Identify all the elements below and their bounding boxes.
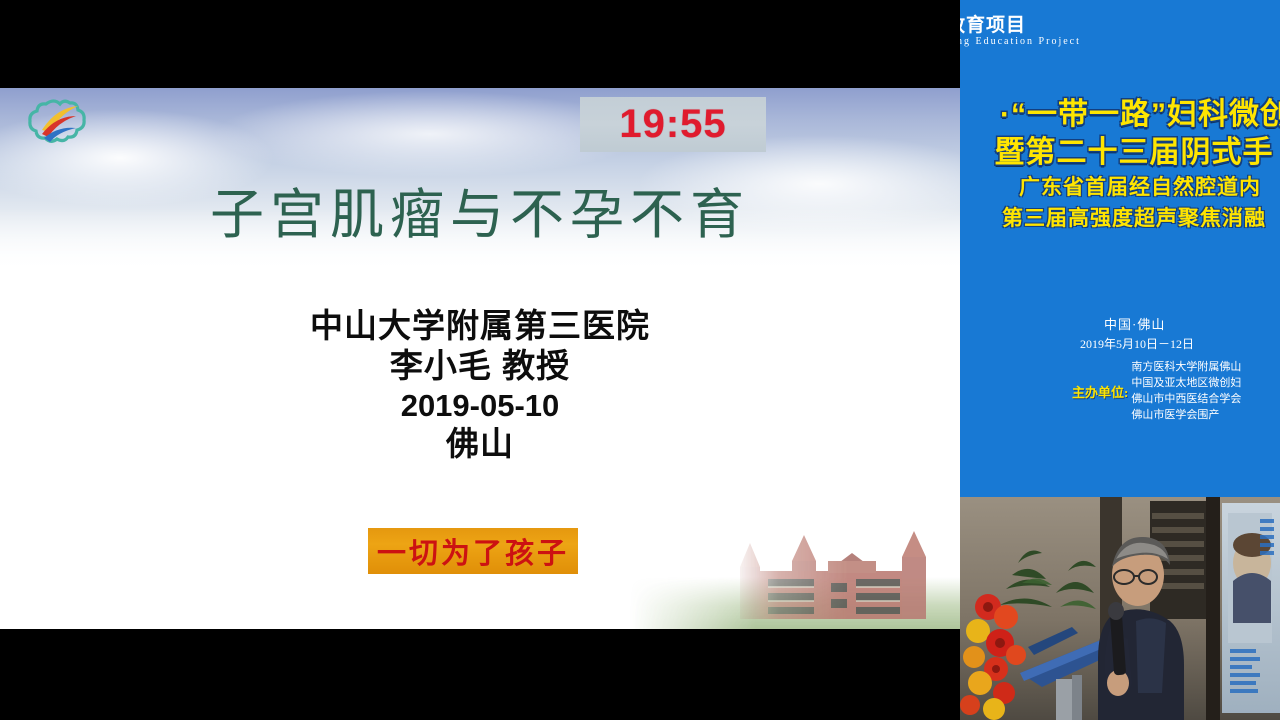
poster-hosts-block: 主办单位: 南方医科大学附属佛山 中国及亚太地区微创妇 佛山市中西医结合学会 佛… [1072,360,1280,424]
slide-presenter: 李小毛 教授 [0,346,960,386]
poster-host-item: 佛山市医学会围产 [1131,408,1241,424]
poster-title-line-2: 暨第二十三届阴式手 [988,134,1280,172]
letterbox-bottom [0,629,960,720]
poster-hosts-list: 南方医科大学附属佛山 中国及亚太地区微创妇 佛山市中西医结合学会 佛山市医学会围… [1131,360,1241,424]
timer-value: 19:55 [619,102,726,147]
letterbox-top [0,0,960,88]
poster-host-item: 南方医科大学附属佛山 [1131,360,1241,376]
slide-organization: 中山大学附属第三医院 [0,306,960,346]
slide-title: 子宫肌瘤与不孕不育 [0,170,960,249]
campus-building-illustration [732,527,942,623]
slide-slogan-box: 一切为了孩子 [368,528,578,574]
poster-subtitle-line-1: 广东省首届经自然腔道内 [1000,174,1280,202]
poster-header-en: Continuing Education Project [960,36,1280,48]
poster-subtitle-line-2: 第三届高强度超声聚焦消融 [988,205,1280,233]
poster-title-line-1: ·“一带一路”妇科微创、 [1000,96,1280,134]
conference-cloud-logo [22,96,100,154]
poster-header-cn: 继续教育项目 [960,16,1280,36]
countdown-timer: 19:55 [580,97,766,152]
slide-city: 佛山 [0,424,960,464]
slide-slogan-text: 一切为了孩子 [377,530,569,572]
poster-hosts-label: 主办单位: [1072,382,1128,401]
right-column: 继续教育项目 Continuing Education Project ·“一带… [960,0,1280,720]
poster-host-item: 佛山市中西医结合学会 [1131,392,1241,408]
presentation-slide-viewport[interactable]: 19:55 子宫肌瘤与不孕不育 中山大学附属第三医院 李小毛 教授 2019-0… [0,88,960,629]
poster-header: 继续教育项目 Continuing Education Project [960,16,1280,48]
video-player-stage: 19:55 子宫肌瘤与不孕不育 中山大学附属第三医院 李小毛 教授 2019-0… [0,0,1280,720]
poster-location-block: 中国·佛山 2019年5月10日－12日 [1080,315,1280,354]
poster-host-item: 中国及亚太地区微创妇 [1131,376,1241,392]
poster-main-titles: ·“一带一路”妇科微创、 暨第二十三届阴式手 广东省首届经自然腔道内 第三届高强… [960,96,1280,234]
slide-campus-building-graphic [630,499,960,629]
conference-poster: 继续教育项目 Continuing Education Project ·“一带… [960,0,1280,497]
poster-dates: 2019年5月10日－12日 [1080,335,1280,354]
slide-body-text: 中山大学附属第三医院 李小毛 教授 2019-05-10 佛山 [0,306,960,465]
slide-date: 2019-05-10 [0,387,960,425]
poster-place: 中国·佛山 [1104,315,1280,335]
live-speaker-camera[interactable] [960,497,1280,720]
